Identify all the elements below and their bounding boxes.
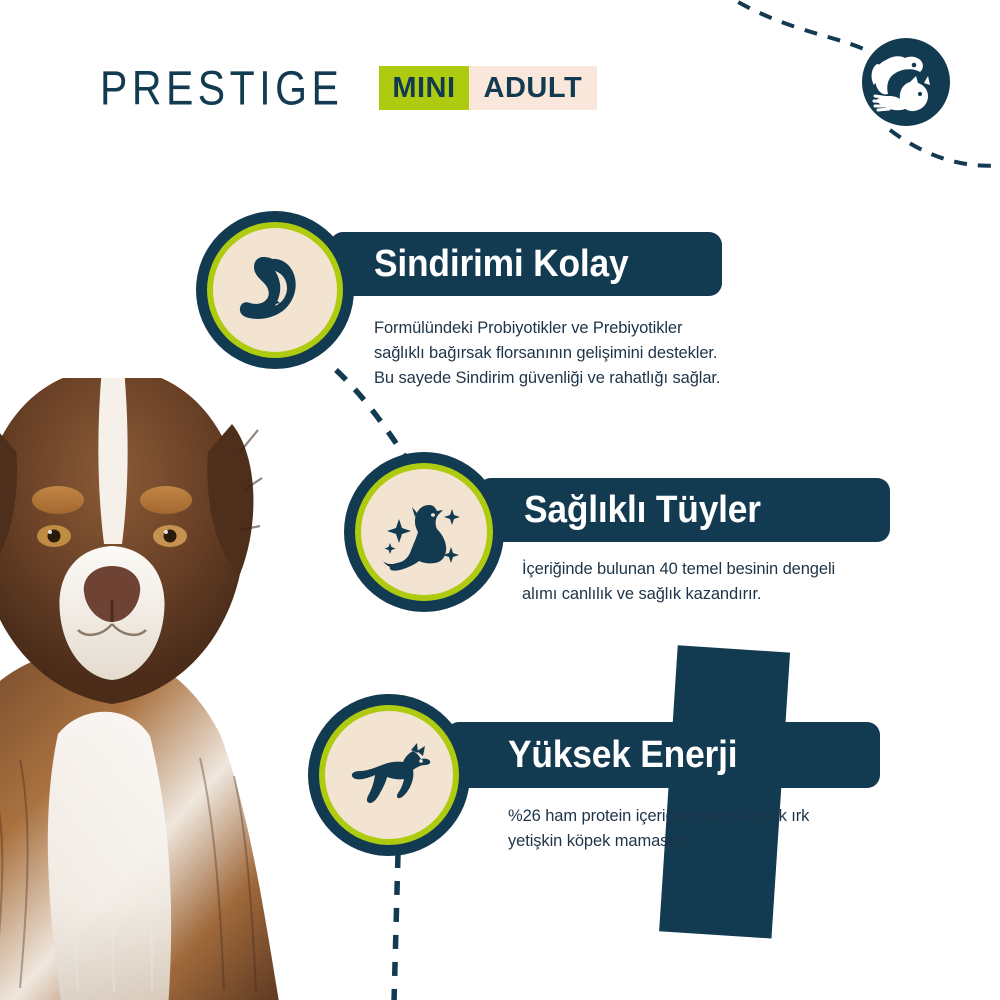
product-variant-badges: MINI ADULT bbox=[379, 66, 597, 110]
feature-3-icon-badge bbox=[308, 694, 470, 856]
feature-3-title-bar: Yüksek Enerji bbox=[446, 722, 880, 788]
feature-2-title-bar: Sağlıklı Tüyler bbox=[478, 478, 890, 542]
badge-mini: MINI bbox=[379, 66, 468, 110]
feature-1-title-bar: Sindirimi Kolay bbox=[330, 232, 722, 296]
feature-3-title: Yüksek Enerji bbox=[508, 736, 737, 774]
feature-3-description: %26 ham protein içeriğine sahip küçük ır… bbox=[508, 804, 908, 854]
sitting-dog-sparkle-icon bbox=[361, 469, 487, 595]
badge-adult: ADULT bbox=[469, 66, 598, 110]
connector-dash-bottom bbox=[380, 852, 420, 1000]
pet-brand-logo bbox=[862, 38, 950, 126]
feature-2-description: İçeriğinde bulunan 40 temel besinin deng… bbox=[522, 557, 922, 607]
feature-1-title: Sindirimi Kolay bbox=[374, 245, 628, 283]
feature-2-title: Sağlıklı Tüyler bbox=[524, 491, 761, 529]
jumping-dog-icon bbox=[325, 711, 453, 839]
feature-1-icon-badge bbox=[196, 211, 354, 369]
infographic-page: PRESTIGE MINI ADULT bbox=[0, 0, 1000, 1000]
stomach-icon bbox=[213, 228, 337, 352]
feature-2-icon-badge bbox=[344, 452, 504, 612]
brand-header: PRESTIGE MINI ADULT bbox=[100, 62, 597, 114]
icon-ring-green bbox=[319, 705, 459, 845]
icon-ring-green bbox=[355, 463, 493, 601]
icon-ring-green bbox=[207, 222, 343, 358]
feature-1-description: Formülündeki Probiyotikler ve Prebiyotik… bbox=[374, 316, 774, 391]
page-title: PRESTIGE bbox=[100, 64, 343, 112]
dog-photo bbox=[0, 378, 282, 1000]
